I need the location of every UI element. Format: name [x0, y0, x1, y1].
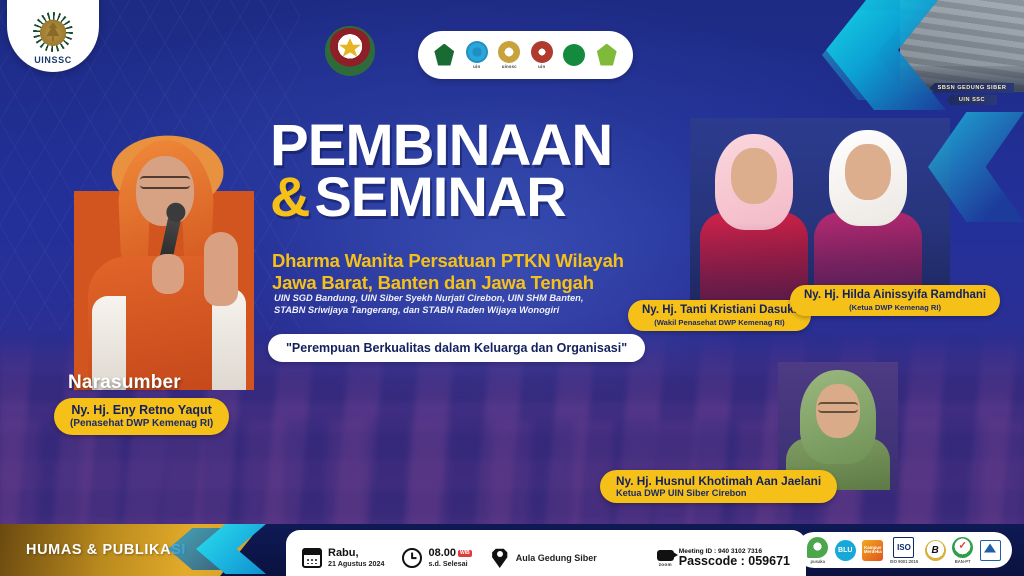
sponsor-caption: pusaka	[811, 559, 825, 564]
speaker-badge-eny-retno-yaqut: Ny. Hj. Eny Retno Yaqut (Penasehat DWP K…	[54, 398, 229, 435]
building-tag-line1: SBSN GEDUNG SIBER	[930, 83, 1015, 93]
event-venue-name: Aula Gedung Siber	[516, 553, 597, 563]
event-date: Rabu, 21 Agustus 2024	[302, 548, 384, 568]
speaker-name: Ny. Hj. Eny Retno Yaqut	[70, 403, 213, 418]
subtitle-block: Dharma Wanita Persatuan PTKN Wilayah Jaw…	[272, 250, 672, 294]
logo-uinssc: uinssc	[496, 40, 522, 70]
speaker-role: (Ketua DWP Kemenag RI)	[804, 303, 986, 312]
event-venue: Aula Gedung Siber	[490, 548, 597, 568]
logo-caption: uinssc	[502, 64, 517, 69]
headline-ampersand: &	[270, 170, 310, 224]
event-time-zone: WIB	[458, 550, 472, 557]
sponsor-iso: ISO ISO 9001:2015	[890, 537, 918, 564]
institutions-line-1: UIN SGD Bandung, UIN Siber Syekh Nurjati…	[274, 293, 634, 305]
face-shape	[136, 156, 194, 226]
logo-caption: uin	[473, 64, 480, 69]
event-time-note: s.d. Selesai	[428, 560, 471, 568]
speaker-photo-pair-tanti-hilda	[690, 118, 950, 308]
building-tag: SBSN GEDUNG SIBER UIN SSC	[924, 83, 1020, 105]
akreditasi-b-icon: B	[925, 540, 946, 561]
speaker-role: (Penasehat DWP Kemenag RI)	[70, 418, 213, 430]
seminar-poster: UINSSC uin uinssc uin S	[0, 0, 1024, 576]
uin-circle-icon	[466, 41, 488, 63]
zoom-label: zoom	[659, 562, 672, 567]
speaker-photo-eny-retno-yaqut	[74, 128, 254, 390]
speaker-role: Ketua DWP UIN Siber Cirebon	[616, 488, 821, 499]
event-time: 08.00WIB s.d. Selesai	[402, 548, 471, 568]
sponsor-caption: BAN-PT	[955, 559, 971, 564]
dwp-emblem-icon	[325, 26, 375, 76]
event-time-value: 08.00	[428, 547, 456, 559]
logo-uin: uin	[464, 40, 490, 70]
speaker-badge-husnul-khotimah: Ny. Hj. Husnul Khotimah Aan Jaelani Ketu…	[600, 470, 837, 503]
logo-uin-shm: uin	[529, 40, 555, 70]
stabn-raden-wijaya-icon	[596, 44, 618, 66]
clock-icon	[402, 548, 422, 568]
uinssc-logo-text: UINSSC	[34, 55, 72, 65]
glasses-icon	[140, 176, 190, 189]
poster-headline: PEMBINAAN & SEMINAR	[270, 118, 690, 223]
photo-shade-overlay	[690, 118, 950, 308]
uinssc-emblem-icon	[33, 12, 73, 52]
subtitle-line-1: Dharma Wanita Persatuan PTKN Wilayah	[272, 250, 672, 272]
ban-pt-icon	[952, 537, 973, 558]
sponsor-logo-strip: pusaka BLU Kampus Merdeka ISO ISO 9001:2…	[796, 532, 1012, 568]
institutions-list: UIN SGD Bandung, UIN Siber Syekh Nurjati…	[274, 293, 634, 317]
location-pin-icon	[490, 548, 510, 568]
kemenag-shield-icon	[433, 44, 455, 66]
uin-shm-atom-icon	[531, 41, 553, 63]
zoom-camera-icon: zoom	[657, 550, 674, 567]
raised-hand-shape	[204, 232, 238, 306]
calendar-icon	[302, 548, 322, 568]
sponsor-ban-pt: BAN-PT	[952, 537, 973, 564]
speaker-name: Ny. Hj. Tanti Kristiani Dasuki	[642, 304, 797, 318]
uinssc-circle-icon	[498, 41, 520, 63]
humas-publikasi-label: HUMAS & PUBLIKASI	[26, 542, 186, 558]
institutions-line-2: STABN Sriwijaya Tangerang, dan STABN Rad…	[274, 305, 634, 317]
sponsor-blu: BLU	[835, 540, 856, 561]
logo-stabn-raden-wijaya	[594, 40, 620, 70]
zoom-meeting-info: zoom Meeting ID : 940 3102 7316 Passcode…	[657, 548, 790, 568]
event-details-panel: Rabu, 21 Agustus 2024 08.00WIB s.d. Sele…	[286, 530, 806, 576]
kementerian-icon	[980, 540, 1001, 561]
sponsor-kampus-merdeka: Kampus Merdeka	[862, 540, 883, 561]
event-date-full: 21 Agustus 2024	[328, 560, 384, 568]
sponsor-akreditasi-b: B	[925, 540, 946, 561]
subtitle-line-2: Jawa Barat, Banten dan Jawa Tengah	[272, 272, 672, 294]
glasses-icon	[818, 402, 858, 413]
event-date-day: Rabu,	[328, 548, 384, 560]
sponsor-kementerian	[980, 540, 1001, 561]
speaker-badge-hilda-ainissyifa-ramdhani: Ny. Hj. Hilda Ainissyifa Ramdhani (Ketua…	[790, 285, 1000, 316]
headline-line-2: SEMINAR	[314, 170, 565, 224]
sponsor-pusaka: pusaka	[807, 537, 828, 564]
iso-icon: ISO	[893, 537, 914, 558]
institution-logo-strip: uin uinssc uin	[418, 31, 633, 79]
speaker-badge-tanti-kristiani-dasuki: Ny. Hj. Tanti Kristiani Dasuki (Wakil Pe…	[628, 300, 811, 331]
building-tag-line2: UIN SSC	[947, 95, 997, 105]
speaker-name: Ny. Hj. Hilda Ainissyifa Ramdhani	[804, 289, 986, 303]
logo-kemenag	[431, 40, 457, 70]
zoom-passcode: Passcode : 059671	[679, 555, 790, 568]
sponsor-caption: ISO 9001:2015	[890, 559, 918, 564]
stabn-sriwijaya-icon	[563, 44, 585, 66]
speaker-name: Ny. Hj. Husnul Khotimah Aan Jaelani	[616, 474, 821, 488]
logo-stabn-sriwijaya	[561, 40, 587, 70]
logo-caption: uin	[538, 64, 545, 69]
blu-icon: BLU	[835, 540, 856, 561]
narasumber-label: Narasumber	[68, 372, 181, 394]
pusaka-icon	[807, 537, 828, 558]
kampus-merdeka-icon: Kampus Merdeka	[862, 540, 883, 561]
hand-holding-mic	[152, 254, 184, 294]
theme-quote: "Perempuan Berkualitas dalam Keluarga da…	[268, 334, 645, 362]
speaker-role: (Wakil Penasehat DWP Kemenag RI)	[642, 318, 797, 327]
